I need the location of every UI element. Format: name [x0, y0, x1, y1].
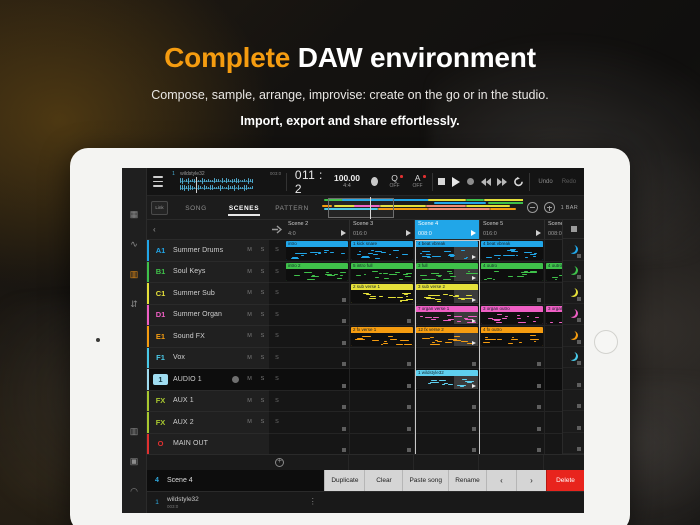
automation-value: OFF — [413, 184, 423, 189]
clip-cell[interactable] — [545, 326, 562, 347]
track-mute-button[interactable]: M — [243, 355, 256, 361]
record-icon[interactable] — [466, 175, 475, 188]
transport-waveform — [180, 178, 253, 192]
clip[interactable]: 1 wildstyle32 — [416, 370, 478, 389]
add-scene-column[interactable] — [284, 455, 349, 471]
tab-song[interactable]: SONG — [172, 200, 220, 216]
time-signature: 4:4 — [334, 184, 360, 190]
loop-icon[interactable] — [513, 175, 524, 188]
song-minimap[interactable] — [320, 197, 523, 219]
instrument-slot[interactable] — [563, 433, 584, 455]
clip-grid: Scene 24:0Scene 3016:0Scene 4008:0Scene … — [269, 220, 562, 454]
track-mute-button[interactable]: M — [243, 312, 256, 318]
clip-stop-button[interactable] — [342, 448, 346, 452]
instrument-slot[interactable] — [563, 282, 584, 304]
transport-playhead — [196, 177, 197, 193]
track-name-label: Sound FX — [168, 333, 243, 340]
add-scene-strip — [147, 454, 584, 470]
row-stop-button[interactable]: S — [269, 369, 285, 390]
track-row[interactable]: A1Summer DrumsMS — [147, 240, 269, 262]
clip[interactable]: 3 full — [416, 263, 478, 282]
clip-body — [546, 312, 562, 325]
next-scene-button[interactable]: › — [516, 470, 546, 491]
track-solo-button[interactable]: S — [256, 355, 269, 361]
clip-stop-button[interactable] — [472, 362, 476, 366]
track-key-label: FX — [153, 396, 168, 405]
mixer-icon[interactable]: ⇵ — [126, 296, 143, 313]
clip-body — [481, 247, 543, 260]
add-scene-column[interactable] — [544, 455, 584, 471]
clip-cell[interactable]: 4 fx outro — [480, 326, 545, 347]
clip-stop-button[interactable] — [407, 448, 411, 452]
clip-cell[interactable] — [480, 412, 545, 433]
scene-length: 008:0 — [548, 232, 562, 238]
clip[interactable]: 3 organ outro — [546, 306, 562, 325]
scene-header[interactable]: Scene 6008:0 — [545, 220, 562, 239]
track-solo-button[interactable]: S — [256, 419, 269, 425]
tab-scenes[interactable]: SCENES — [220, 200, 268, 216]
clip-body — [351, 333, 413, 346]
clear-button[interactable]: Clear — [364, 470, 402, 491]
clip-stop-button[interactable] — [537, 448, 541, 452]
track-solo-button[interactable]: S — [256, 247, 269, 253]
clip-stop-button[interactable] — [537, 384, 541, 388]
clip-cell[interactable]: 4 outro — [545, 262, 562, 283]
duplicate-button[interactable]: Duplicate — [324, 470, 364, 491]
clip[interactable]: 7 organ verse 1 — [416, 306, 478, 325]
track-key-label: 1 — [153, 374, 168, 385]
redo-button[interactable]: Redo — [562, 179, 580, 185]
instrument-icon — [569, 288, 578, 297]
row-stop-button[interactable]: S — [269, 283, 285, 304]
app-main: 1 wildstyle32 003:0 011 : 2 100.00 4:4 — [147, 168, 584, 513]
track-list: ‹ A1Summer DrumsMSB1Soul KeysMSC1Summer … — [147, 220, 269, 454]
track-row[interactable]: C1Summer SubMS — [147, 283, 269, 305]
track-solo-button[interactable]: S — [256, 333, 269, 339]
clip-cell[interactable] — [545, 391, 562, 412]
clip-stop-button[interactable] — [342, 427, 346, 431]
clip[interactable]: 1 kick snare — [351, 241, 413, 260]
clip-cell[interactable]: 5 intro full — [350, 262, 415, 283]
link-button[interactable]: Link — [151, 201, 168, 215]
paste-song-button[interactable]: Paste song — [402, 470, 448, 491]
instrument-slot[interactable] — [563, 368, 584, 390]
play-icon[interactable] — [452, 175, 461, 188]
scene-header[interactable]: Scene 3016:0 — [350, 220, 415, 239]
instrument-slot[interactable] — [563, 304, 584, 326]
track-record-arm[interactable] — [232, 376, 239, 383]
clip-cell[interactable]: 3 sub verse 2 — [415, 283, 480, 304]
collapse-chevron-icon[interactable]: ‹ — [153, 225, 156, 234]
scene-name: Scene 5 — [483, 222, 541, 228]
transport-tempo[interactable]: 100.00 4:4 — [331, 174, 363, 189]
clip-cell[interactable]: 4 beat vbreak — [415, 240, 480, 261]
clip-body — [286, 247, 348, 260]
instrument-icon — [569, 352, 578, 361]
minimap-clip-bar — [484, 199, 523, 201]
row-stop-button[interactable] — [269, 434, 285, 455]
track-color-stripe — [147, 305, 149, 326]
clip-body — [481, 333, 543, 346]
clip-stop-button[interactable] — [407, 427, 411, 431]
view-tabs: SONG SCENES PATTERN — [172, 200, 316, 216]
clip-stop-button[interactable] — [407, 319, 411, 323]
clip-stop-button[interactable] — [472, 448, 476, 452]
clip-cell[interactable] — [350, 391, 415, 412]
clip-stop-button[interactable] — [342, 384, 346, 388]
clip-body — [351, 290, 413, 303]
minimap-viewport[interactable] — [328, 198, 394, 218]
clip-stop-button[interactable] — [342, 405, 346, 409]
clip-cell[interactable] — [415, 434, 480, 455]
fast-forward-icon[interactable] — [497, 175, 508, 188]
track-row[interactable]: D1Summer OrganMS — [147, 305, 269, 327]
clip-body — [416, 247, 478, 260]
scene-play-icon[interactable] — [471, 230, 476, 236]
clip-stop-button[interactable] — [342, 298, 346, 302]
clip-cell[interactable]: 2 fx verse 1 — [350, 326, 415, 347]
clip-play-icon[interactable] — [472, 255, 476, 259]
right-instrument-rail — [562, 220, 584, 454]
track-key-label: B1 — [153, 267, 168, 276]
clip-cell[interactable] — [545, 240, 562, 261]
clip-stop-button[interactable] — [407, 362, 411, 366]
track-solo-button[interactable]: S — [256, 269, 269, 275]
clip-row: S — [269, 391, 562, 413]
clip-row: S2 fx verse 112 fx verse 24 fx outro — [269, 326, 562, 348]
track-color-stripe — [147, 412, 149, 433]
track-mute-button[interactable]: M — [243, 269, 256, 275]
previous-scene-button[interactable]: ‹ — [486, 470, 516, 491]
promo-headline-accent: Complete — [164, 42, 290, 73]
clip-play-icon[interactable] — [472, 319, 476, 323]
clip[interactable]: 4 outro — [546, 263, 562, 282]
clip-cell[interactable] — [480, 391, 545, 412]
clip-cell[interactable]: 3 organ outro — [545, 305, 562, 326]
waveform-icon[interactable]: ∿ — [126, 236, 143, 253]
minimap-clip-bar — [466, 205, 510, 207]
instrument-slot[interactable] — [563, 411, 584, 433]
track-color-stripe — [147, 391, 149, 412]
clip-stop-button[interactable] — [407, 405, 411, 409]
clip-cell[interactable] — [545, 283, 562, 304]
clip-play-icon[interactable] — [472, 276, 476, 280]
track-mute-button[interactable]: M — [243, 419, 256, 425]
clip-stop-button[interactable] — [537, 427, 541, 431]
row-stop-button[interactable]: S — [269, 305, 285, 326]
divider — [286, 173, 287, 191]
sampler-icon[interactable]: ▣ — [126, 453, 143, 470]
track-color-stripe — [147, 283, 149, 304]
clip-cell[interactable]: 1 kick snare — [350, 240, 415, 261]
clip-cell[interactable] — [480, 348, 545, 369]
row-stop-button[interactable]: S — [269, 326, 285, 347]
instrument-icon — [569, 309, 578, 318]
undo-button[interactable]: Undo — [534, 179, 556, 185]
clip-cell[interactable] — [350, 305, 415, 326]
clip-cell[interactable] — [285, 369, 350, 390]
track-row[interactable]: F1VoxMS — [147, 348, 269, 370]
add-scene-columns — [284, 455, 584, 471]
clip-cell[interactable] — [285, 391, 350, 412]
track-name-label: MAIN OUT — [168, 440, 243, 447]
track-solo-button[interactable]: S — [256, 312, 269, 318]
clip-cell[interactable] — [285, 348, 350, 369]
transport-position[interactable]: 011 : 2 — [292, 168, 326, 196]
clip-play-icon[interactable] — [472, 298, 476, 302]
row-stop-button[interactable]: S — [269, 262, 285, 283]
track-color-stripe — [147, 326, 149, 347]
clip-cell[interactable] — [285, 283, 350, 304]
clip[interactable]: 5 intro full — [351, 263, 413, 282]
clip[interactable]: 3 organ outro — [481, 306, 543, 325]
minimap-playhead — [370, 197, 371, 219]
rename-button[interactable]: Rename — [448, 470, 486, 491]
track-solo-button[interactable]: S — [256, 290, 269, 296]
automation-label: A — [413, 174, 423, 183]
track-row[interactable]: FXAUX 2MS — [147, 412, 269, 434]
clip-cell[interactable] — [480, 369, 545, 390]
track-solo-button[interactable]: S — [256, 398, 269, 404]
clip-cell[interactable] — [480, 283, 545, 304]
instrument-slot[interactable] — [563, 390, 584, 412]
minimap-clip-bar — [428, 199, 466, 201]
clip-cell[interactable]: 3 full — [415, 262, 480, 283]
transport-track-number: 1 — [172, 171, 175, 177]
track-name-label: Vox — [168, 354, 243, 361]
track-row[interactable]: 1AUDIO 1MS — [147, 369, 269, 391]
scene-name: Scene 2 — [288, 222, 346, 228]
clip-cell[interactable] — [415, 348, 480, 369]
stop-icon[interactable] — [437, 175, 446, 188]
track-mute-button[interactable]: M — [243, 290, 256, 296]
clip-cell[interactable]: 7 organ verse 1 — [415, 305, 480, 326]
instrument-slot[interactable] — [563, 239, 584, 261]
grid-view-icon[interactable]: ▦ — [126, 206, 143, 223]
row-stop-button[interactable]: S — [269, 391, 285, 412]
clip-cell[interactable]: intro — [285, 240, 350, 261]
clip-cell[interactable] — [285, 326, 350, 347]
clip-body — [416, 269, 478, 282]
clip[interactable]: 4 beat vbreak — [416, 241, 478, 260]
bottom-track-strip: 1 wildstyle32 003:0 ⋮ — [147, 491, 584, 513]
clip-cell[interactable]: 2 sub verse 1 — [350, 283, 415, 304]
slot-indicator — [577, 447, 581, 451]
transport-track-name: wildstyle32 — [180, 171, 204, 177]
clip-cell[interactable] — [350, 434, 415, 455]
clip-row: S2 sub verse 13 sub verse 2 — [269, 283, 562, 305]
clip[interactable]: 2 fx verse 1 — [351, 327, 413, 346]
clip-stop-button[interactable] — [472, 427, 476, 431]
grid-resolution-label[interactable]: 1 BAR — [561, 205, 578, 211]
scene-name: Scene 6 — [548, 222, 562, 228]
divider — [432, 173, 433, 191]
clip[interactable]: 4 beat vbreak — [481, 241, 543, 260]
row-stop-button[interactable]: S — [269, 412, 285, 433]
minimap-clip-bar — [488, 202, 523, 204]
clip-rows: Sintro1 kick snare4 beat vbreak4 beat vb… — [269, 240, 562, 454]
instrument-slot[interactable] — [563, 325, 584, 347]
scene-grid-wrapper: ‹ A1Summer DrumsMSB1Soul KeysMSC1Summer … — [147, 220, 584, 454]
slot-indicator — [577, 254, 581, 258]
track-name-label: Summer Sub — [168, 290, 243, 297]
scene-header[interactable]: Scene 5016:0 — [480, 220, 545, 239]
promo-headline-rest: DAW environment — [290, 42, 536, 73]
hamburger-icon[interactable] — [153, 176, 163, 186]
clip-cell[interactable]: 3 organ outro — [480, 305, 545, 326]
track-color-stripe — [147, 348, 149, 369]
tablet-device: ▦ ∿ ▥ ⇵ ▥ ▣ ◠ 1 wildstyle32 003:0 — [70, 148, 630, 525]
track-name-label: AUDIO 1 — [168, 376, 232, 383]
clip-body — [351, 247, 413, 260]
clip-cell[interactable]: 12 fx verse 2 — [415, 326, 480, 347]
clip-cell[interactable] — [350, 369, 415, 390]
clip-stop-button[interactable] — [407, 384, 411, 388]
clip[interactable]: intro — [286, 241, 348, 260]
track-mute-button[interactable]: M — [243, 333, 256, 339]
clip-cell[interactable] — [415, 391, 480, 412]
clip-cell[interactable] — [545, 348, 562, 369]
track-key-label: O — [153, 439, 168, 448]
scene-launch-all-icon[interactable] — [269, 220, 285, 239]
clip-cell[interactable]: 4 beat vbreak — [480, 240, 545, 261]
headphones-icon[interactable]: ◠ — [126, 483, 143, 500]
promo-subline-2: Import, export and share effortlessly. — [0, 114, 700, 128]
automation-control[interactable]: A OFF — [409, 174, 427, 189]
promo-subline-1: Compose, sample, arrange, improvise: cre… — [0, 88, 700, 102]
metronome-icon[interactable] — [371, 177, 378, 186]
slot-indicator — [577, 318, 581, 322]
track-mute-button[interactable]: M — [243, 398, 256, 404]
slot-indicator — [577, 297, 581, 301]
keyboard-icon[interactable]: ▥ — [126, 423, 143, 440]
bottom-track-length: 003:0 — [167, 504, 199, 509]
scene-play-icon[interactable] — [341, 230, 346, 236]
row-stop-button[interactable]: S — [269, 240, 285, 261]
slot-indicator — [577, 383, 581, 387]
clip[interactable]: 4 outro — [481, 263, 543, 282]
clip-body — [286, 269, 348, 282]
track-row[interactable]: E1Sound FXMS — [147, 326, 269, 348]
clip-cell[interactable] — [285, 305, 350, 326]
clip-body — [416, 312, 478, 325]
instrument-slot[interactable] — [563, 261, 584, 283]
clip-body — [416, 376, 478, 389]
minimap-clip-bar — [490, 208, 516, 210]
clip-row: S — [269, 412, 562, 434]
track-color-stripe — [147, 369, 149, 390]
track-row[interactable]: FXAUX 1MS — [147, 391, 269, 413]
clip[interactable]: 4 fx outro — [481, 327, 543, 346]
zoom-in-icon[interactable] — [544, 202, 555, 213]
minimap-clip-bar — [428, 208, 490, 210]
track-name-label: Soul Keys — [168, 268, 243, 275]
scene-name: Scene 3 — [353, 222, 411, 228]
rewind-icon[interactable] — [481, 175, 492, 188]
track-list-header: ‹ — [147, 220, 269, 240]
clip-cell[interactable] — [350, 412, 415, 433]
clip-cell[interactable] — [545, 369, 562, 390]
track-row[interactable]: OMAIN OUT — [147, 434, 269, 456]
add-scene-column[interactable] — [479, 455, 544, 471]
clip-body — [416, 333, 478, 346]
clip-cell[interactable] — [285, 434, 350, 455]
clip-stop-button[interactable] — [537, 298, 541, 302]
instrument-slot[interactable] — [563, 347, 584, 369]
clip-cell[interactable] — [545, 412, 562, 433]
tab-pattern[interactable]: PATTERN — [268, 200, 316, 216]
clip-cell[interactable] — [415, 412, 480, 433]
bottom-track-meta: wildstyle32 003:0 — [167, 496, 199, 509]
row-stop-button[interactable]: S — [269, 348, 285, 369]
more-vertical-icon[interactable]: ⋮ — [309, 500, 317, 505]
clip-cell[interactable]: 4 outro — [480, 262, 545, 283]
quantize-indicator — [400, 175, 403, 178]
tablet-camera — [96, 338, 100, 342]
clip-row: S1 wildstyle32 — [269, 369, 562, 391]
tablet-home-button[interactable] — [594, 330, 618, 354]
clip-row: Sintro1 kick snare4 beat vbreak4 beat vb… — [269, 240, 562, 262]
clip[interactable]: 2 sub verse 1 — [351, 284, 413, 303]
scene-header[interactable]: Scene 24:0 — [285, 220, 350, 239]
quantize-control[interactable]: Q OFF — [386, 174, 404, 189]
clip-stop-button[interactable] — [342, 319, 346, 323]
clip-body — [416, 290, 478, 303]
clip[interactable]: 12 fx verse 2 — [416, 327, 478, 346]
clip[interactable]: intro 2 — [286, 263, 348, 282]
clip-cell[interactable] — [545, 434, 562, 455]
clip-cell[interactable]: 1 wildstyle32 — [415, 369, 480, 390]
clip-stop-button[interactable] — [342, 341, 346, 345]
clip-play-icon[interactable] — [472, 341, 476, 345]
clip-stop-button[interactable] — [342, 362, 346, 366]
clips-icon[interactable]: ▥ — [126, 266, 143, 283]
add-scene-column[interactable] — [414, 455, 479, 471]
clip-cell[interactable] — [285, 412, 350, 433]
track-mute-button[interactable]: M — [243, 247, 256, 253]
clip-stop-button[interactable] — [537, 405, 541, 409]
minimap-clip-bar — [426, 205, 466, 207]
clip-cell[interactable] — [480, 434, 545, 455]
delete-button[interactable]: Delete — [546, 470, 584, 491]
track-color-stripe — [147, 434, 149, 455]
transport-track-preview[interactable]: 1 wildstyle32 003:0 — [172, 171, 281, 193]
track-key-label: C1 — [153, 289, 168, 298]
add-scene-column[interactable] — [349, 455, 414, 471]
clip-cell[interactable]: intro 2 — [285, 262, 350, 283]
zoom-out-icon[interactable] — [527, 202, 538, 213]
track-color-stripe — [147, 262, 149, 283]
clip-cell[interactable] — [350, 348, 415, 369]
slot-indicator — [577, 404, 581, 408]
clip-stop-button[interactable] — [537, 362, 541, 366]
track-solo-button[interactable]: S — [256, 376, 269, 382]
scene-play-icon[interactable] — [536, 230, 541, 236]
clip-stop-button[interactable] — [472, 405, 476, 409]
track-name-label: Summer Organ — [168, 311, 243, 318]
scene-header[interactable]: Scene 4008:0 — [415, 220, 480, 239]
track-key-label: FX — [153, 418, 168, 427]
track-row[interactable]: B1Soul KeysMS — [147, 262, 269, 284]
track-mute-button[interactable]: M — [243, 376, 256, 382]
scene-length: 016:0 — [353, 232, 411, 238]
clip-play-icon[interactable] — [472, 384, 476, 388]
minimap-clip-bar — [466, 199, 484, 201]
clip[interactable]: 3 sub verse 2 — [416, 284, 478, 303]
scene-play-icon[interactable] — [406, 230, 411, 236]
add-scene-button[interactable] — [275, 458, 284, 467]
track-color-stripe — [147, 240, 149, 261]
